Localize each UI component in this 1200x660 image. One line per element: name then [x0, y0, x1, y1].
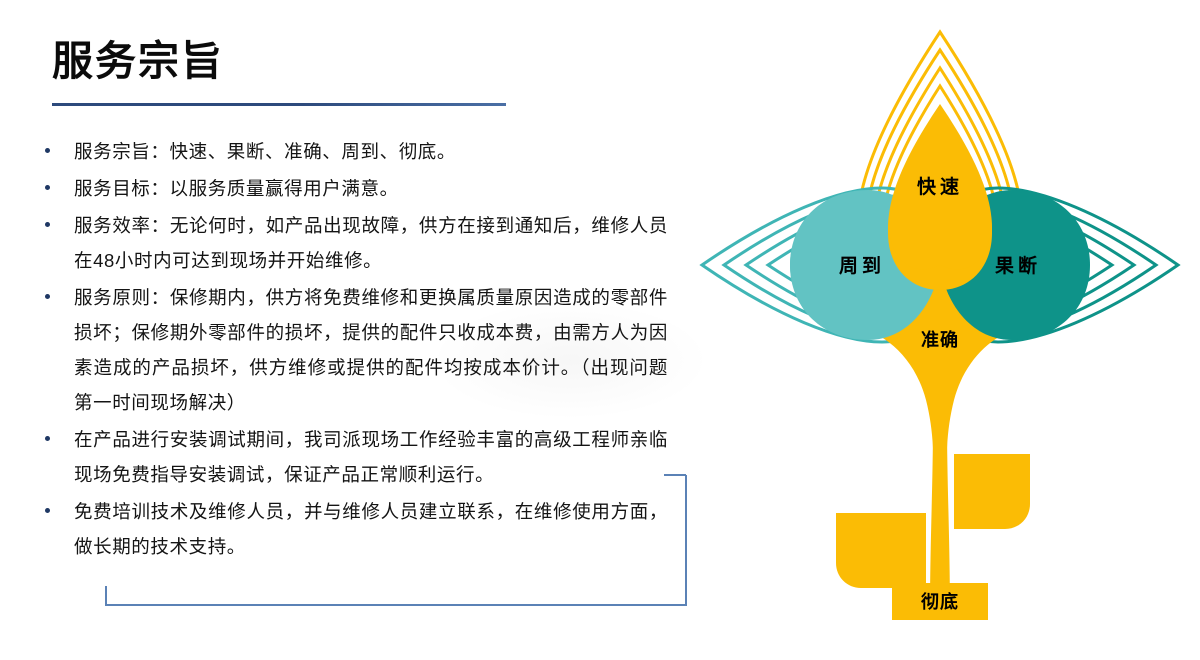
- petal-label-right: 果断: [994, 254, 1041, 277]
- bullet-dot-icon: [45, 148, 50, 153]
- list-item: 服务原则：保修期内，供方将免费维修和更换属质量原因造成的零部件损坏；保修期外零部…: [38, 280, 668, 420]
- list-item: 在产品进行安装调试期间，我司派现场工作经验丰富的高级工程师亲临现场免费指导安装调…: [38, 422, 668, 492]
- bullet-dot-icon: [45, 436, 50, 441]
- slide-canvas: 服务宗旨 服务宗旨：快速、果断、准确、周到、彻底。 服务目标：以服务质量赢得用户…: [0, 0, 1200, 660]
- page-title: 服务宗旨: [52, 38, 224, 85]
- list-item-text: 服务目标：以服务质量赢得用户满意。: [74, 178, 399, 199]
- bullet-dot-icon: [45, 508, 50, 513]
- list-item: 免费培训技术及维修人员，并与维修人员建立联系，在维修使用方面，做长期的技术支持。: [38, 494, 668, 564]
- content-column: 服务宗旨 服务宗旨：快速、果断、准确、周到、彻底。 服务目标：以服务质量赢得用户…: [0, 0, 700, 660]
- list-item-text: 服务宗旨：快速、果断、准确、周到、彻底。: [74, 141, 456, 162]
- service-flower-diagram: 快速 周到 果断 准确 彻底: [690, 18, 1190, 643]
- petal-label-top: 快速: [917, 175, 963, 198]
- list-item-text: 服务效率：无论何时，如产品出现故障，供方在接到通知后，维修人员在48小时内可达到…: [74, 215, 668, 271]
- petal-label-bottom: 准确: [921, 329, 959, 350]
- list-item: 服务宗旨：快速、果断、准确、周到、彻底。: [38, 134, 668, 169]
- bullet-dot-icon: [45, 222, 50, 227]
- list-item-text: 免费培训技术及维修人员，并与维修人员建立联系，在维修使用方面，做长期的技术支持。: [74, 501, 668, 557]
- bullet-dot-icon: [45, 185, 50, 190]
- title-underline-rule: [52, 103, 506, 106]
- petal-label-left: 周到: [839, 255, 885, 277]
- service-bullet-list: 服务宗旨：快速、果断、准确、周到、彻底。 服务目标：以服务质量赢得用户满意。 服…: [38, 134, 668, 566]
- list-item: 服务效率：无论何时，如产品出现故障，供方在接到通知后，维修人员在48小时内可达到…: [38, 208, 668, 278]
- list-item: 服务目标：以服务质量赢得用户满意。: [38, 171, 668, 206]
- list-item-text: 服务原则：保修期内，供方将免费维修和更换属质量原因造成的零部件损坏；保修期外零部…: [74, 287, 668, 413]
- base-label: 彻底: [920, 591, 959, 612]
- stem-group: [836, 418, 1030, 620]
- bullet-dot-icon: [45, 294, 50, 299]
- list-item-text: 在产品进行安装调试期间，我司派现场工作经验丰富的高级工程师亲临现场免费指导安装调…: [74, 429, 668, 485]
